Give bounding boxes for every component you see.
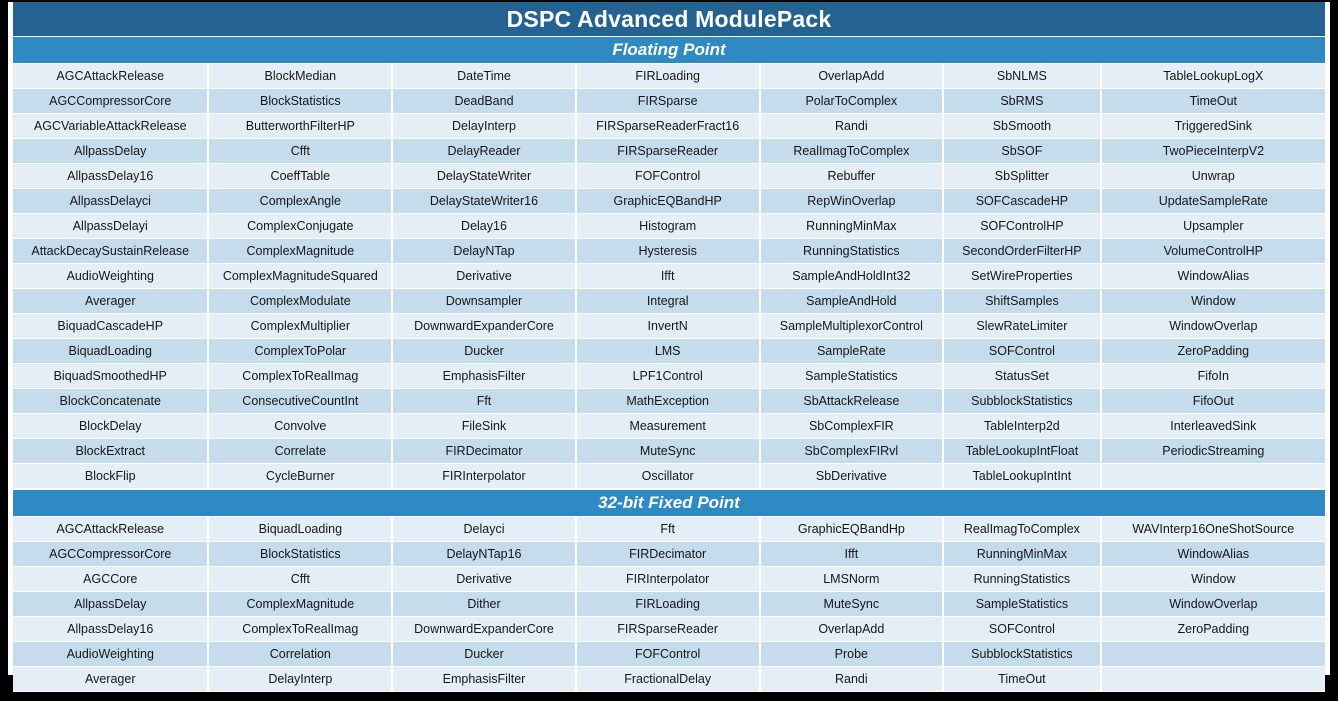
- module-name-cell[interactable]: ComplexMagnitude: [208, 239, 392, 264]
- module-name-cell[interactable]: SbRMS: [943, 89, 1100, 114]
- module-name-cell[interactable]: SbAttackRelease: [760, 389, 944, 414]
- module-name-cell[interactable]: Cfft: [208, 139, 392, 164]
- module-name-cell[interactable]: AttackDecaySustainRelease: [13, 239, 208, 264]
- module-name-cell[interactable]: AGCCompressorCore: [13, 89, 208, 114]
- module-name-cell[interactable]: SubblockStatistics: [943, 642, 1100, 667]
- table-row: AudioWeightingComplexMagnitudeSquaredDer…: [13, 264, 1325, 289]
- module-name-cell[interactable]: AGCCore: [13, 567, 208, 592]
- table-row: AllpassDelayComplexMagnitudeDitherFIRLoa…: [13, 592, 1325, 617]
- module-name-cell[interactable]: Fft: [576, 517, 760, 542]
- module-name-cell[interactable]: SOFCascadeHP: [943, 189, 1100, 214]
- module-table-fixed-point: AGCAttackReleaseBiquadLoadingDelayciFftG…: [13, 517, 1325, 692]
- module-name-cell[interactable]: SampleAndHoldInt32: [760, 264, 944, 289]
- module-name-cell[interactable]: Window: [1101, 567, 1325, 592]
- module-name-cell[interactable]: ComplexToRealImag: [208, 617, 392, 642]
- module-name-cell[interactable]: SOFControlHP: [943, 214, 1100, 239]
- module-name-cell[interactable]: Dither: [392, 592, 576, 617]
- module-name-cell[interactable]: Derivative: [392, 567, 576, 592]
- module-name-cell[interactable]: Averager: [13, 667, 208, 692]
- module-name-cell[interactable]: Oscillator: [576, 464, 760, 489]
- module-name-cell[interactable]: TableLookupLogX: [1101, 64, 1325, 89]
- module-name-cell[interactable]: SbSmooth: [943, 114, 1100, 139]
- module-name-cell[interactable]: TableLookupIntInt: [943, 464, 1100, 489]
- module-name-cell[interactable]: EmphasisFilter: [392, 364, 576, 389]
- table-row: AveragerComplexModulateDownsamplerIntegr…: [13, 289, 1325, 314]
- module-name-cell[interactable]: ZeroPadding: [1101, 617, 1325, 642]
- module-name-cell[interactable]: FIRDecimator: [576, 542, 760, 567]
- module-name-cell[interactable]: CoeffTable: [208, 164, 392, 189]
- module-name-cell[interactable]: Unwrap: [1101, 164, 1325, 189]
- module-name-cell[interactable]: SetWireProperties: [943, 264, 1100, 289]
- module-name-cell[interactable]: SbComplexFIRvl: [760, 439, 944, 464]
- module-name-cell[interactable]: Ducker: [392, 339, 576, 364]
- module-name-cell[interactable]: CycleBurner: [208, 464, 392, 489]
- module-name-cell[interactable]: AGCAttackRelease: [13, 64, 208, 89]
- module-name-cell[interactable]: Delay16: [392, 214, 576, 239]
- module-name-cell[interactable]: SampleRate: [760, 339, 944, 364]
- module-name-cell[interactable]: FIRSparseReader: [576, 617, 760, 642]
- module-name-cell[interactable]: LMSNorm: [760, 567, 944, 592]
- module-name-cell[interactable]: StatusSet: [943, 364, 1100, 389]
- module-name-cell[interactable]: FileSink: [392, 414, 576, 439]
- empty-cell: [1101, 667, 1325, 692]
- module-name-cell[interactable]: RunningMinMax: [760, 214, 944, 239]
- module-name-cell[interactable]: Correlate: [208, 439, 392, 464]
- table-row: AudioWeightingCorrelationDuckerFOFContro…: [13, 642, 1325, 667]
- module-name-cell[interactable]: BlockConcatenate: [13, 389, 208, 414]
- module-name-cell[interactable]: RunningMinMax: [943, 542, 1100, 567]
- module-name-cell[interactable]: Fft: [392, 389, 576, 414]
- module-name-cell[interactable]: Upsampler: [1101, 214, 1325, 239]
- module-name-cell[interactable]: OverlapAdd: [760, 617, 944, 642]
- module-name-cell[interactable]: ShiftSamples: [943, 289, 1100, 314]
- module-name-cell[interactable]: SampleAndHold: [760, 289, 944, 314]
- module-name-cell[interactable]: InterleavedSink: [1101, 414, 1325, 439]
- module-name-cell[interactable]: SampleMultiplexorControl: [760, 314, 944, 339]
- table-row: BiquadLoadingComplexToPolarDuckerLMSSamp…: [13, 339, 1325, 364]
- module-name-cell[interactable]: FifoOut: [1101, 389, 1325, 414]
- module-name-cell[interactable]: Integral: [576, 289, 760, 314]
- table-row: AGCCoreCfftDerivativeFIRInterpolatorLMSN…: [13, 567, 1325, 592]
- module-name-cell[interactable]: SOFControl: [943, 617, 1100, 642]
- module-name-cell[interactable]: Correlation: [208, 642, 392, 667]
- module-name-cell[interactable]: GraphicEQBandHP: [576, 189, 760, 214]
- module-name-cell[interactable]: SbComplexFIR: [760, 414, 944, 439]
- module-name-cell[interactable]: ConsecutiveCountInt: [208, 389, 392, 414]
- module-name-cell[interactable]: VolumeControlHP: [1101, 239, 1325, 264]
- module-name-cell[interactable]: AllpassDelayi: [13, 214, 208, 239]
- module-name-cell[interactable]: Delayci: [392, 517, 576, 542]
- module-name-cell[interactable]: SecondOrderFilterHP: [943, 239, 1100, 264]
- module-name-cell[interactable]: AllpassDelay16: [13, 617, 208, 642]
- module-name-cell[interactable]: AudioWeighting: [13, 264, 208, 289]
- page-root: DSPC Advanced ModulePack Floating Point …: [0, 0, 1338, 701]
- module-name-cell[interactable]: Hysteresis: [576, 239, 760, 264]
- module-name-cell[interactable]: WindowOverlap: [1101, 592, 1325, 617]
- module-name-cell[interactable]: SbSplitter: [943, 164, 1100, 189]
- table-row: BiquadSmoothedHPComplexToRealImagEmphasi…: [13, 364, 1325, 389]
- module-name-cell[interactable]: FIRInterpolator: [392, 464, 576, 489]
- module-name-cell[interactable]: AllpassDelay: [13, 139, 208, 164]
- section-banner-fixed-point-label: 32-bit Fixed Point: [598, 493, 740, 513]
- module-name-cell[interactable]: AllpassDelay: [13, 592, 208, 617]
- module-name-cell[interactable]: AGCCompressorCore: [13, 542, 208, 567]
- module-name-cell[interactable]: WAVInterp16OneShotSource: [1101, 517, 1325, 542]
- module-name-cell[interactable]: AGCAttackRelease: [13, 517, 208, 542]
- section-banner-fixed-point: 32-bit Fixed Point: [13, 489, 1325, 517]
- module-name-cell[interactable]: Ifft: [760, 542, 944, 567]
- module-name-cell[interactable]: FIRLoading: [576, 592, 760, 617]
- table-row: BiquadCascadeHPComplexMultiplierDownward…: [13, 314, 1325, 339]
- module-name-cell[interactable]: MuteSync: [576, 439, 760, 464]
- module-name-cell[interactable]: ButterworthFilterHP: [208, 114, 392, 139]
- module-name-cell[interactable]: ComplexMultiplier: [208, 314, 392, 339]
- module-name-cell[interactable]: RealImagToComplex: [943, 517, 1100, 542]
- module-name-cell[interactable]: FIRDecimator: [392, 439, 576, 464]
- module-name-cell[interactable]: MathException: [576, 389, 760, 414]
- module-name-cell[interactable]: DeadBand: [392, 89, 576, 114]
- module-name-cell[interactable]: GraphicEQBandHp: [760, 517, 944, 542]
- module-name-cell[interactable]: BiquadLoading: [13, 339, 208, 364]
- module-name-cell[interactable]: FOFControl: [576, 642, 760, 667]
- module-name-cell[interactable]: SOFControl: [943, 339, 1100, 364]
- module-name-cell[interactable]: WindowAlias: [1101, 264, 1325, 289]
- module-name-cell[interactable]: RealImagToComplex: [760, 139, 944, 164]
- table-row: AGCCompressorCoreBlockStatisticsDelayNTa…: [13, 542, 1325, 567]
- module-name-cell[interactable]: ComplexToPolar: [208, 339, 392, 364]
- table-row: AGCAttackReleaseBiquadLoadingDelayciFftG…: [13, 517, 1325, 542]
- section-banner-floating-point-label: Floating Point: [612, 40, 725, 60]
- module-name-cell[interactable]: Convolve: [208, 414, 392, 439]
- module-name-cell[interactable]: DelayInterp: [392, 114, 576, 139]
- module-name-cell[interactable]: TwoPieceInterpV2: [1101, 139, 1325, 164]
- module-name-cell[interactable]: DownwardExpanderCore: [392, 314, 576, 339]
- table-row: AllpassDelayciComplexAngleDelayStateWrit…: [13, 189, 1325, 214]
- module-name-cell[interactable]: BiquadCascadeHP: [13, 314, 208, 339]
- module-name-cell[interactable]: FIRSparse: [576, 89, 760, 114]
- module-name-cell[interactable]: UpdateSampleRate: [1101, 189, 1325, 214]
- page-title-text: DSPC Advanced ModulePack: [507, 6, 832, 33]
- table-row: AttackDecaySustainReleaseComplexMagnitud…: [13, 239, 1325, 264]
- module-name-cell[interactable]: FIRSparseReader: [576, 139, 760, 164]
- module-name-cell[interactable]: ZeroPadding: [1101, 339, 1325, 364]
- module-name-cell[interactable]: Rebuffer: [760, 164, 944, 189]
- table-row: AGCVariableAttackReleaseButterworthFilte…: [13, 114, 1325, 139]
- module-name-cell[interactable]: DelayStateWriter: [392, 164, 576, 189]
- module-name-cell[interactable]: DelayStateWriter16: [392, 189, 576, 214]
- module-name-cell[interactable]: BlockDelay: [13, 414, 208, 439]
- module-name-cell[interactable]: LMS: [576, 339, 760, 364]
- module-name-cell[interactable]: DelayInterp: [208, 667, 392, 692]
- module-name-cell[interactable]: WindowOverlap: [1101, 314, 1325, 339]
- table-row: AGCCompressorCoreBlockStatisticsDeadBand…: [13, 89, 1325, 114]
- table-row: BlockDelayConvolveFileSinkMeasurementSbC…: [13, 414, 1325, 439]
- module-name-cell[interactable]: AllpassDelayci: [13, 189, 208, 214]
- module-name-cell[interactable]: MuteSync: [760, 592, 944, 617]
- module-name-cell[interactable]: AudioWeighting: [13, 642, 208, 667]
- module-name-cell[interactable]: AGCVariableAttackRelease: [13, 114, 208, 139]
- module-name-cell[interactable]: PeriodicStreaming: [1101, 439, 1325, 464]
- module-name-cell[interactable]: Derivative: [392, 264, 576, 289]
- module-name-cell[interactable]: BiquadLoading: [208, 517, 392, 542]
- module-name-cell[interactable]: Probe: [760, 642, 944, 667]
- empty-cell: [1101, 464, 1325, 489]
- module-name-cell[interactable]: FIRLoading: [576, 64, 760, 89]
- module-name-cell[interactable]: Ducker: [392, 642, 576, 667]
- module-name-cell[interactable]: ComplexToRealImag: [208, 364, 392, 389]
- module-name-cell[interactable]: Window: [1101, 289, 1325, 314]
- module-name-cell[interactable]: ComplexAngle: [208, 189, 392, 214]
- table-row: AGCAttackReleaseBlockMedianDateTimeFIRLo…: [13, 64, 1325, 89]
- module-name-cell[interactable]: SampleStatistics: [760, 364, 944, 389]
- table-row: BlockConcatenateConsecutiveCountIntFftMa…: [13, 389, 1325, 414]
- module-name-cell[interactable]: Measurement: [576, 414, 760, 439]
- module-name-cell[interactable]: SbSOF: [943, 139, 1100, 164]
- module-table-fixed-point-body: AGCAttackReleaseBiquadLoadingDelayciFftG…: [13, 517, 1325, 692]
- module-name-cell[interactable]: TriggeredSink: [1101, 114, 1325, 139]
- module-name-cell[interactable]: Downsampler: [392, 289, 576, 314]
- table-row: AllpassDelay16CoeffTableDelayStateWriter…: [13, 164, 1325, 189]
- module-name-cell[interactable]: Randi: [760, 114, 944, 139]
- module-name-cell[interactable]: SbDerivative: [760, 464, 944, 489]
- module-name-cell[interactable]: TableLookupIntFloat: [943, 439, 1100, 464]
- table-row: AllpassDelay16ComplexToRealImagDownwardE…: [13, 617, 1325, 642]
- module-name-cell[interactable]: WindowAlias: [1101, 542, 1325, 567]
- module-name-cell[interactable]: Averager: [13, 289, 208, 314]
- module-name-cell[interactable]: DownwardExpanderCore: [392, 617, 576, 642]
- module-name-cell[interactable]: DelayNTap16: [392, 542, 576, 567]
- module-name-cell[interactable]: FOFControl: [576, 164, 760, 189]
- module-name-cell[interactable]: FifoIn: [1101, 364, 1325, 389]
- module-name-cell[interactable]: SampleStatistics: [943, 592, 1100, 617]
- module-name-cell[interactable]: DateTime: [392, 64, 576, 89]
- module-name-cell[interactable]: BiquadSmoothedHP: [13, 364, 208, 389]
- module-name-cell[interactable]: TimeOut: [1101, 89, 1325, 114]
- module-name-cell[interactable]: Randi: [760, 667, 944, 692]
- module-name-cell[interactable]: InvertN: [576, 314, 760, 339]
- module-name-cell[interactable]: SlewRateLimiter: [943, 314, 1100, 339]
- module-name-cell[interactable]: ComplexConjugate: [208, 214, 392, 239]
- module-name-cell[interactable]: BlockStatistics: [208, 542, 392, 567]
- table-row: BlockExtractCorrelateFIRDecimatorMuteSyn…: [13, 439, 1325, 464]
- module-name-cell[interactable]: BlockStatistics: [208, 89, 392, 114]
- table-row: AllpassDelayiComplexConjugateDelay16Hist…: [13, 214, 1325, 239]
- module-name-cell[interactable]: DelayReader: [392, 139, 576, 164]
- module-name-cell[interactable]: BlockFlip: [13, 464, 208, 489]
- modulepack-sheet: DSPC Advanced ModulePack Floating Point …: [8, 2, 1330, 675]
- module-name-cell[interactable]: PolarToComplex: [760, 89, 944, 114]
- module-name-cell[interactable]: SubblockStatistics: [943, 389, 1100, 414]
- module-name-cell[interactable]: RunningStatistics: [943, 567, 1100, 592]
- module-name-cell[interactable]: FIRInterpolator: [576, 567, 760, 592]
- module-name-cell[interactable]: TimeOut: [943, 667, 1100, 692]
- module-name-cell[interactable]: Ifft: [576, 264, 760, 289]
- module-name-cell[interactable]: EmphasisFilter: [392, 667, 576, 692]
- module-name-cell[interactable]: Cfft: [208, 567, 392, 592]
- table-row: AveragerDelayInterpEmphasisFilterFractio…: [13, 667, 1325, 692]
- table-row: AllpassDelayCfftDelayReaderFIRSparseRead…: [13, 139, 1325, 164]
- module-name-cell[interactable]: LPF1Control: [576, 364, 760, 389]
- module-name-cell[interactable]: AllpassDelay16: [13, 164, 208, 189]
- module-name-cell[interactable]: BlockExtract: [13, 439, 208, 464]
- module-name-cell[interactable]: RepWinOverlap: [760, 189, 944, 214]
- empty-cell: [1101, 642, 1325, 667]
- module-name-cell[interactable]: ComplexMagnitudeSquared: [208, 264, 392, 289]
- module-name-cell[interactable]: ComplexMagnitude: [208, 592, 392, 617]
- module-name-cell[interactable]: DelayNTap: [392, 239, 576, 264]
- module-name-cell[interactable]: OverlapAdd: [760, 64, 944, 89]
- section-banner-floating-point: Floating Point: [13, 36, 1325, 64]
- module-name-cell[interactable]: FractionalDelay: [576, 667, 760, 692]
- table-row: BlockFlipCycleBurnerFIRInterpolatorOscil…: [13, 464, 1325, 489]
- module-name-cell[interactable]: FIRSparseReaderFract16: [576, 114, 760, 139]
- module-name-cell[interactable]: BlockMedian: [208, 64, 392, 89]
- module-name-cell[interactable]: SbNLMS: [943, 64, 1100, 89]
- module-name-cell[interactable]: TableInterp2d: [943, 414, 1100, 439]
- page-title: DSPC Advanced ModulePack: [13, 2, 1325, 36]
- module-name-cell[interactable]: ComplexModulate: [208, 289, 392, 314]
- module-name-cell[interactable]: Histogram: [576, 214, 760, 239]
- module-table-floating-point: AGCAttackReleaseBlockMedianDateTimeFIRLo…: [13, 64, 1325, 489]
- module-name-cell[interactable]: RunningStatistics: [760, 239, 944, 264]
- module-table-floating-point-body: AGCAttackReleaseBlockMedianDateTimeFIRLo…: [13, 64, 1325, 489]
